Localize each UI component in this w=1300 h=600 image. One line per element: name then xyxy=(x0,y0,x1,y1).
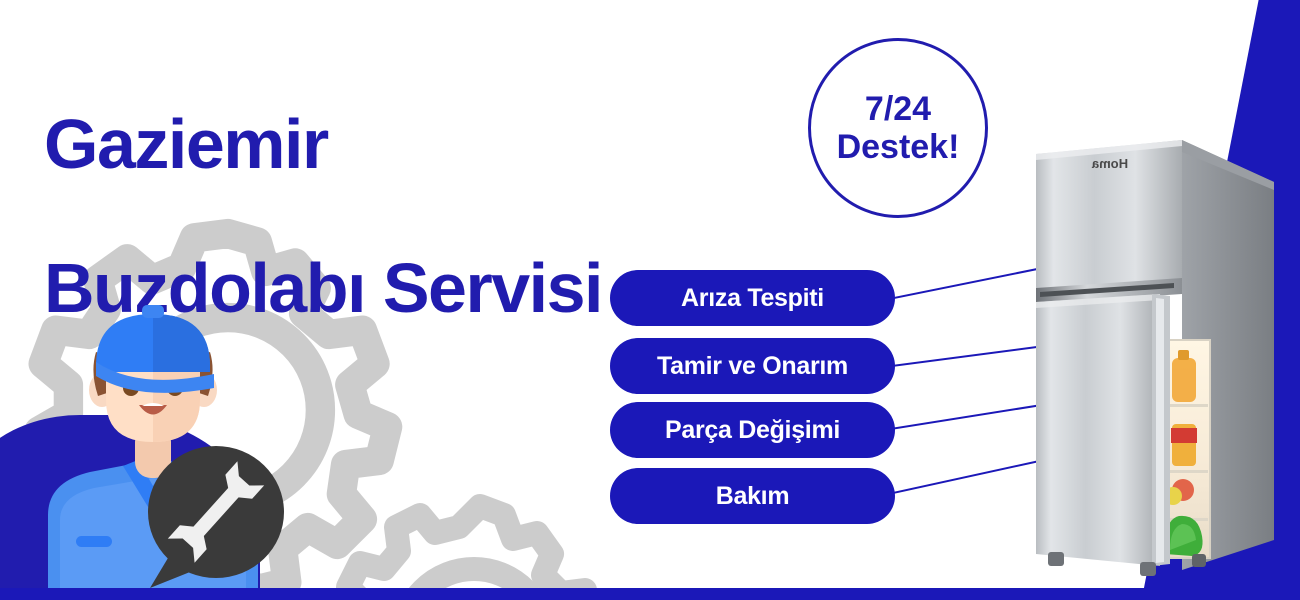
headline-line-1: Gaziemir xyxy=(44,108,602,180)
service-pill-label: Tamir ve Onarım xyxy=(657,352,848,381)
fridge-brand-logo: Homa xyxy=(1091,156,1128,171)
fridge-item-juice xyxy=(1172,358,1196,402)
fridge-item-jar-label xyxy=(1171,428,1197,443)
service-banner: Gaziemir Buzdolabı Servisi 7/24 Destek! … xyxy=(0,0,1300,600)
service-pill-bakim[interactable]: Bakım xyxy=(610,468,895,524)
service-pill-label: Arıza Tespiti xyxy=(681,284,824,313)
fridge-foot xyxy=(1140,562,1156,576)
fridge-main-door xyxy=(1036,294,1160,566)
technician-cap-button xyxy=(142,305,164,318)
support-badge-label: Destek! xyxy=(837,128,960,166)
technician-cap-shadow xyxy=(153,314,210,372)
technician-pocket xyxy=(76,536,112,547)
fridge-door-edge-highlight xyxy=(1156,298,1164,563)
support-badge-hours: 7/24 xyxy=(865,90,931,128)
service-pill-ariza-tespiti[interactable]: Arıza Tespiti xyxy=(610,270,895,326)
service-pill-label: Bakım xyxy=(716,482,790,511)
service-pill-label: Parça Değişimi xyxy=(665,416,840,445)
fridge-foot xyxy=(1048,552,1064,566)
fridge-foot xyxy=(1192,554,1206,567)
bottom-accent-bar xyxy=(0,588,1300,600)
support-badge: 7/24 Destek! xyxy=(808,38,988,218)
service-pill-parca-degisimi[interactable]: Parça Değişimi xyxy=(610,402,895,458)
technician-illustration xyxy=(18,300,288,600)
fridge-item-juice-cap xyxy=(1178,350,1189,360)
service-pill-tamir-ve-onarim[interactable]: Tamir ve Onarım xyxy=(610,338,895,394)
refrigerator-image: Homa xyxy=(1022,118,1300,588)
